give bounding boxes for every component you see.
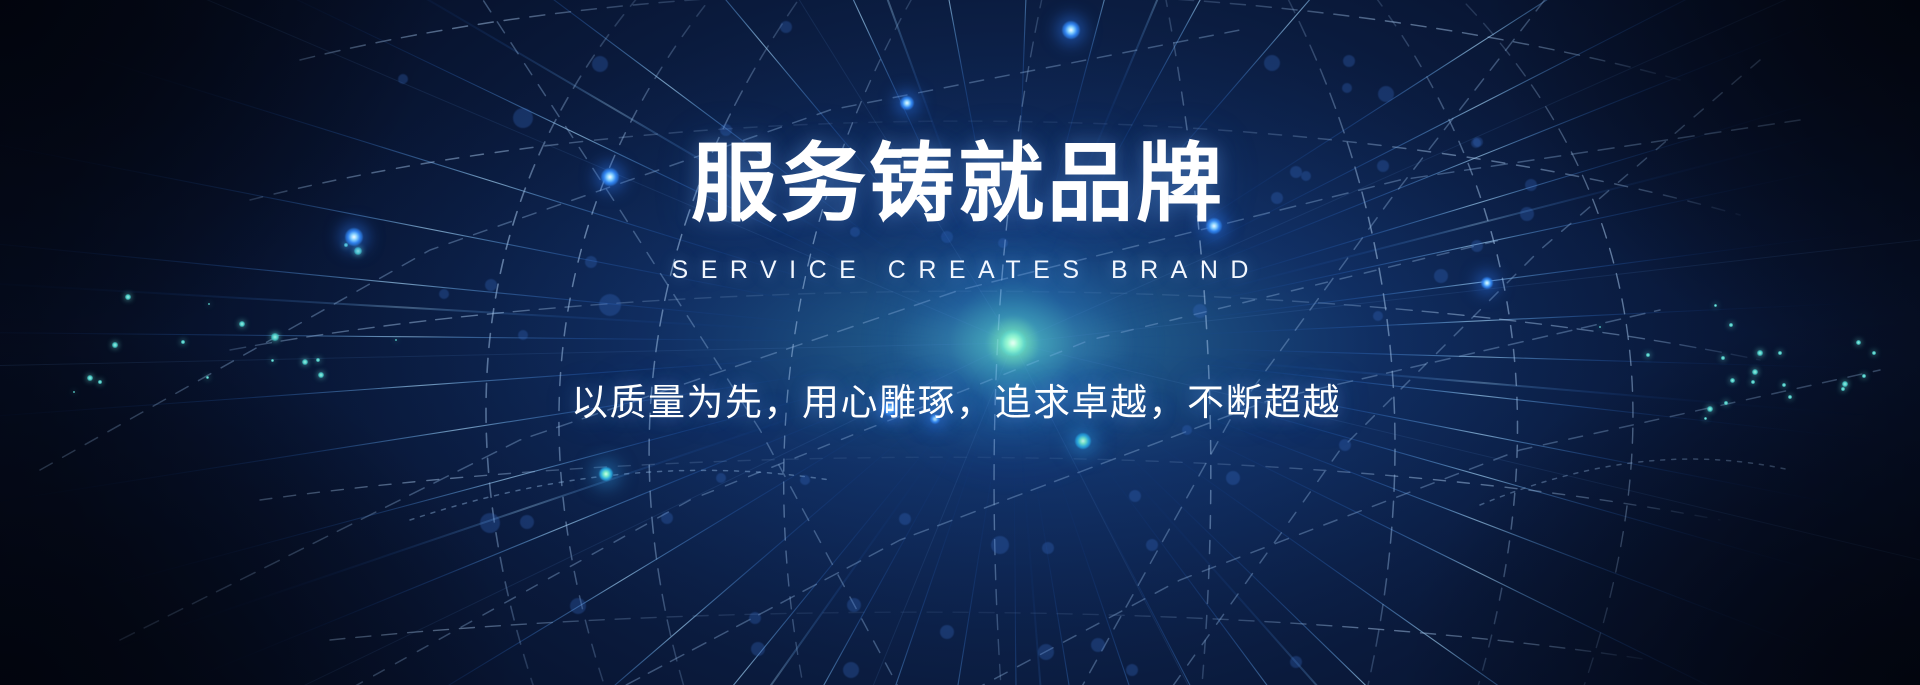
hero-banner: 服务铸就品牌 SERVICE CREATES BRAND 以质量为先，用心雕琢，…	[0, 0, 1920, 685]
vignette-overlay	[0, 0, 1920, 685]
